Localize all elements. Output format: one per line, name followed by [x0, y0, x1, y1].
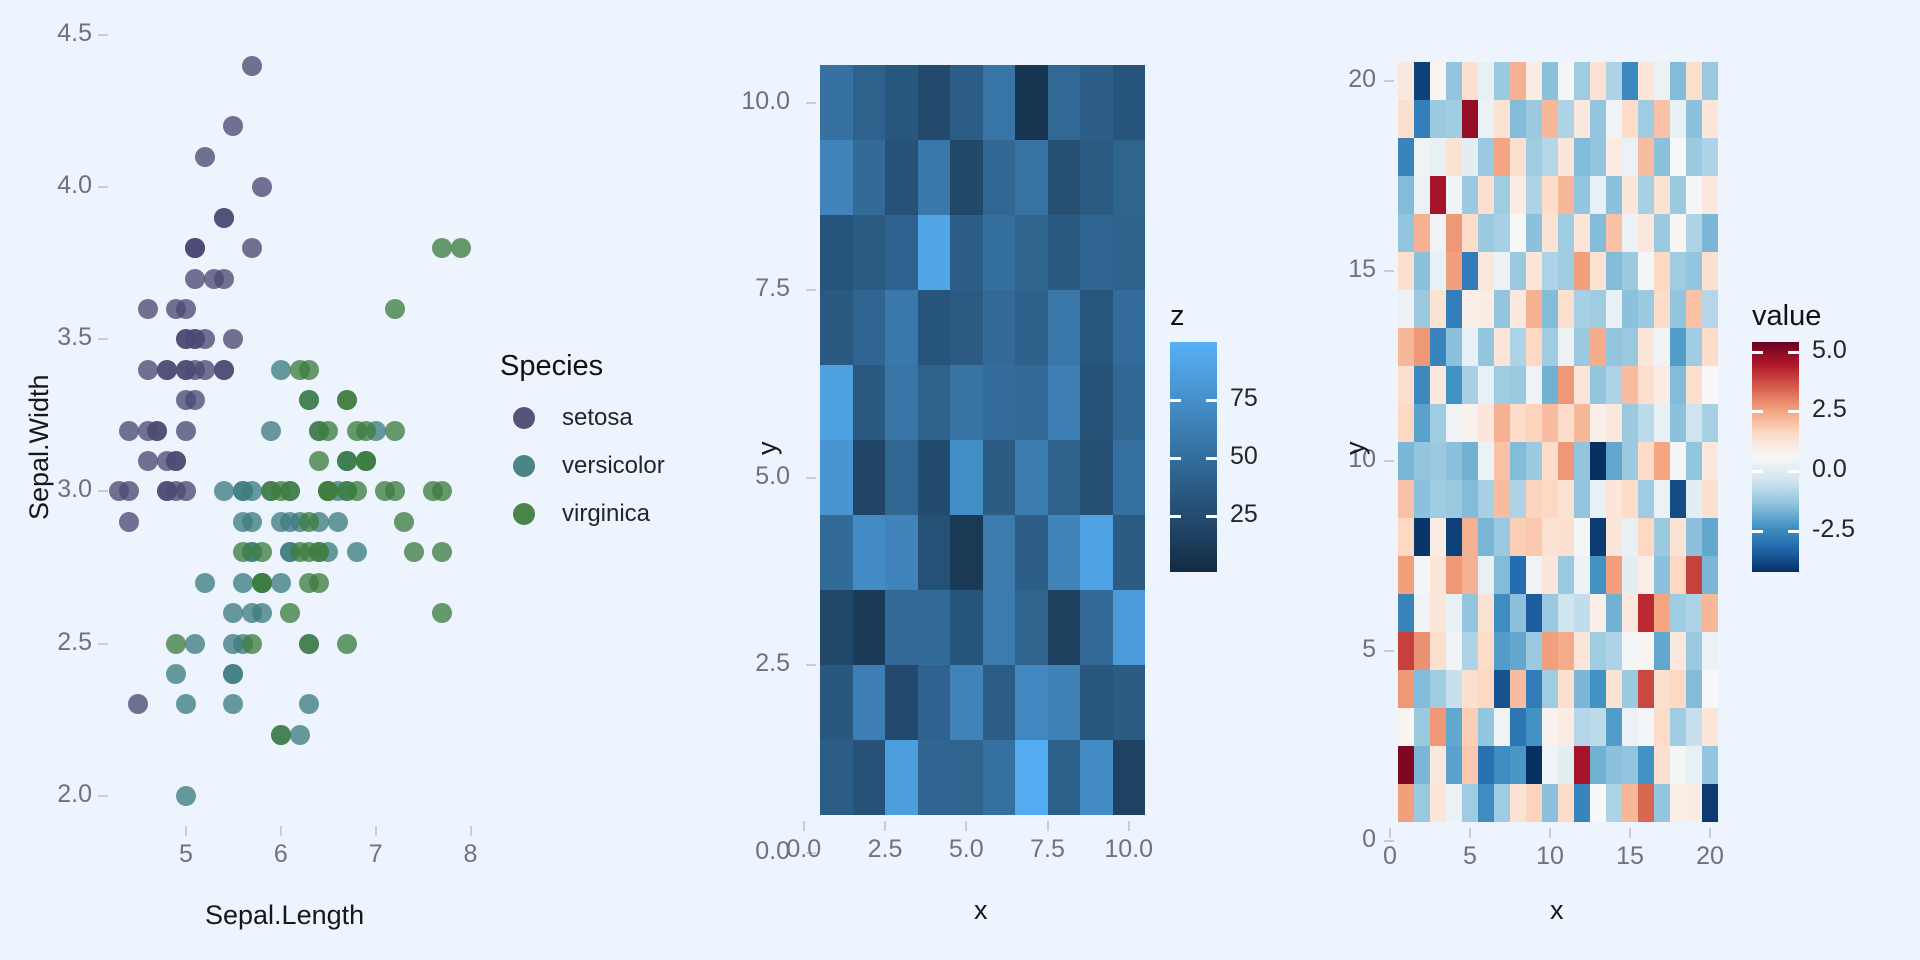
colorbar-z-tick-mark — [1206, 399, 1217, 402]
heatmap-cell — [1526, 594, 1542, 632]
scatter-point — [176, 694, 196, 714]
heatmap-cell — [1558, 138, 1574, 176]
heatmap-cell — [1542, 328, 1558, 366]
heatmap-cell — [1542, 138, 1558, 176]
heatmap-cell — [1670, 252, 1686, 290]
heatmap-cell — [1398, 518, 1414, 556]
heatmap-cell — [1113, 215, 1146, 290]
heatmap-cell — [885, 65, 918, 140]
scatter-x-tick-label: 5 — [156, 840, 216, 869]
heatmap-cell — [1606, 62, 1622, 100]
heatmap-cell — [1494, 746, 1510, 784]
heatmap-cell — [1654, 784, 1670, 822]
scatter-x-tick-mark — [470, 826, 472, 836]
heatmap-cell — [1113, 590, 1146, 665]
scatter-point — [394, 512, 414, 532]
scatter-x-tick-label: 7 — [346, 840, 406, 869]
heatmap-cell — [1542, 670, 1558, 708]
legend-entry-label: virginica — [562, 500, 650, 528]
heatmap-cell — [1638, 556, 1654, 594]
scatter-point — [223, 329, 243, 349]
scatter-point — [299, 390, 319, 410]
heatmap-cell — [1414, 404, 1430, 442]
heatmap-cell — [1398, 442, 1414, 480]
heatmap-cell — [1670, 708, 1686, 746]
heatmap-cell — [1446, 252, 1462, 290]
heatmap-cell — [1590, 594, 1606, 632]
heatmap-cell — [1654, 100, 1670, 138]
scatter-point — [271, 360, 291, 380]
heatmap-cell — [1590, 176, 1606, 214]
heatmap-cell — [1574, 594, 1590, 632]
heatmap-cell — [1558, 176, 1574, 214]
scatter-point — [385, 299, 405, 319]
heatmap-cell — [853, 515, 886, 590]
heatmap-cell — [1638, 708, 1654, 746]
heatmap-cell — [1015, 365, 1048, 440]
scatter-plot-area — [110, 20, 480, 820]
heatmap-value-x-tick-mark — [1389, 828, 1391, 838]
heatmap-cell — [885, 140, 918, 215]
heatmap-cell — [1462, 62, 1478, 100]
scatter-point — [223, 634, 243, 654]
heatmap-cell — [1462, 252, 1478, 290]
colorbar-value-gradient — [1752, 342, 1799, 572]
colorbar-value-tick-mark — [1788, 351, 1799, 354]
heatmap-cell — [950, 440, 983, 515]
heatmap-cell — [1446, 176, 1462, 214]
heatmap-cell — [1414, 708, 1430, 746]
heatmap-cell — [1606, 100, 1622, 138]
heatmap-cell — [1510, 632, 1526, 670]
heatmap-value-x-tick-mark — [1549, 828, 1551, 838]
heatmap-cell — [918, 65, 951, 140]
heatmap-cell — [853, 590, 886, 665]
heatmap-cell — [1430, 328, 1446, 366]
scatter-point — [185, 634, 205, 654]
heatmap-cell — [1574, 290, 1590, 328]
heatmap-cell — [1590, 290, 1606, 328]
heatmap-cell — [1542, 176, 1558, 214]
heatmap-cell — [1494, 442, 1510, 480]
scatter-point — [252, 573, 272, 593]
heatmap-cell — [1510, 594, 1526, 632]
heatmap-cell — [1414, 62, 1430, 100]
heatmap-cell — [1414, 556, 1430, 594]
heatmap-cell — [1638, 442, 1654, 480]
heatmap-cell — [1446, 670, 1462, 708]
heatmap-cell — [1686, 518, 1702, 556]
heatmap-cell — [1686, 480, 1702, 518]
heatmap-cell — [1113, 65, 1146, 140]
heatmap-cell — [1622, 518, 1638, 556]
heatmap-cell — [885, 740, 918, 815]
scatter-point — [223, 603, 243, 623]
heatmap-cell — [1574, 442, 1590, 480]
heatmap-cell — [1590, 100, 1606, 138]
heatmap-cell — [1558, 366, 1574, 404]
heatmap-cell — [1526, 480, 1542, 518]
heatmap-z-x-tick-label: 0.0 — [760, 835, 848, 864]
heatmap-cell — [1622, 594, 1638, 632]
heatmap-cell — [1686, 708, 1702, 746]
legend-key-dot — [513, 455, 535, 477]
heatmap-cell — [1510, 290, 1526, 328]
heatmap-cell — [1622, 556, 1638, 594]
heatmap-cell — [1478, 670, 1494, 708]
heatmap-cell — [1654, 746, 1670, 784]
heatmap-cell — [1430, 404, 1446, 442]
heatmap-cell — [1686, 138, 1702, 176]
heatmap-cell — [1702, 100, 1718, 138]
heatmap-cell — [1574, 366, 1590, 404]
colorbar-value-tick-mark — [1788, 530, 1799, 533]
heatmap-cell — [1558, 328, 1574, 366]
scatter-point — [128, 694, 148, 714]
heatmap-cell — [1638, 670, 1654, 708]
heatmap-cell — [1446, 138, 1462, 176]
heatmap-cell — [1670, 176, 1686, 214]
scatter-point — [214, 481, 234, 501]
heatmap-z-y-tick-mark — [806, 102, 816, 104]
heatmap-cell — [1510, 556, 1526, 594]
heatmap-cell — [1446, 328, 1462, 366]
heatmap-cell — [1606, 442, 1622, 480]
heatmap-cell — [1526, 442, 1542, 480]
heatmap-cell — [1414, 784, 1430, 822]
scatter-point — [309, 421, 329, 441]
heatmap-cell — [1462, 442, 1478, 480]
heatmap-cell — [1542, 594, 1558, 632]
heatmap-cell — [820, 140, 853, 215]
heatmap-cell — [1542, 252, 1558, 290]
heatmap-z-y-tick-mark — [806, 477, 816, 479]
heatmap-cell — [1542, 708, 1558, 746]
heatmap-cell — [983, 290, 1016, 365]
heatmap-cell — [1478, 214, 1494, 252]
panel-heatmap-value: 05101520 05101520 y x value 5.02.50.0-2.… — [1320, 0, 1920, 960]
heatmap-cell — [1414, 442, 1430, 480]
heatmap-cell — [1670, 632, 1686, 670]
heatmap-cell — [1574, 62, 1590, 100]
heatmap-cell — [1526, 632, 1542, 670]
heatmap-z-grid — [820, 65, 1145, 815]
heatmap-cell — [1446, 518, 1462, 556]
heatmap-cell — [1430, 480, 1446, 518]
colorbar-value-tick-label: 2.5 — [1812, 395, 1847, 424]
scatter-point — [138, 299, 158, 319]
heatmap-cell — [1670, 214, 1686, 252]
heatmap-cell — [918, 740, 951, 815]
heatmap-cell — [1542, 480, 1558, 518]
heatmap-cell — [1638, 746, 1654, 784]
heatmap-cell — [1526, 366, 1542, 404]
colorbar-z-tick-label: 25 — [1230, 500, 1258, 529]
scatter-point — [223, 116, 243, 136]
heatmap-value-x-tick-mark — [1469, 828, 1471, 838]
scatter-point — [242, 634, 262, 654]
heatmap-cell — [1526, 708, 1542, 746]
heatmap-cell — [1670, 138, 1686, 176]
heatmap-cell — [1430, 556, 1446, 594]
heatmap-cell — [1606, 480, 1622, 518]
heatmap-cell — [1414, 518, 1430, 556]
heatmap-cell — [885, 440, 918, 515]
heatmap-cell — [1478, 784, 1494, 822]
heatmap-cell — [1510, 62, 1526, 100]
heatmap-cell — [1686, 556, 1702, 594]
colorbar-value-tick-label: -2.5 — [1812, 515, 1855, 544]
heatmap-cell — [1526, 328, 1542, 366]
heatmap-cell — [918, 440, 951, 515]
scatter-point — [214, 360, 234, 380]
heatmap-z-y-tick-label: 2.5 — [700, 649, 790, 678]
heatmap-cell — [1398, 670, 1414, 708]
heatmap-cell — [885, 665, 918, 740]
scatter-point — [138, 451, 158, 471]
heatmap-cell — [1080, 65, 1113, 140]
scatter-point — [337, 451, 357, 471]
heatmap-cell — [820, 215, 853, 290]
scatter-y-tick-label: 2.0 — [30, 780, 92, 809]
heatmap-cell — [1414, 746, 1430, 784]
legend-title-species: Species — [500, 350, 603, 383]
heatmap-cell — [1574, 632, 1590, 670]
heatmap-cell — [1462, 480, 1478, 518]
scatter-point — [337, 390, 357, 410]
heatmap-cell — [1654, 442, 1670, 480]
heatmap-cell — [1574, 176, 1590, 214]
heatmap-cell — [1446, 480, 1462, 518]
heatmap-cell — [1670, 62, 1686, 100]
heatmap-cell — [1494, 290, 1510, 328]
heatmap-cell — [1398, 100, 1414, 138]
scatter-point — [271, 573, 291, 593]
heatmap-cell — [1670, 366, 1686, 404]
heatmap-z-y-tick-label: 5.0 — [700, 462, 790, 491]
heatmap-cell — [1494, 328, 1510, 366]
scatter-y-tick-label: 4.5 — [30, 19, 92, 48]
heatmap-cell — [1414, 252, 1430, 290]
heatmap-z-x-tick-label: 2.5 — [841, 835, 929, 864]
heatmap-cell — [1558, 708, 1574, 746]
heatmap-cell — [1510, 784, 1526, 822]
scatter-point — [138, 360, 158, 380]
heatmap-cell — [853, 140, 886, 215]
heatmap-cell — [1462, 328, 1478, 366]
heatmap-cell — [1446, 290, 1462, 328]
heatmap-cell — [1606, 594, 1622, 632]
scatter-y-tick-mark — [98, 338, 108, 340]
colorbar-value-tick-mark — [1752, 351, 1763, 354]
heatmap-cell — [1430, 784, 1446, 822]
heatmap-cell — [1048, 665, 1081, 740]
legend-key-dot — [513, 407, 535, 429]
heatmap-cell — [1590, 442, 1606, 480]
scatter-point — [299, 694, 319, 714]
heatmap-cell — [1638, 632, 1654, 670]
heatmap-cell — [1542, 404, 1558, 442]
colorbar-value-tick-label: 0.0 — [1812, 455, 1847, 484]
heatmap-cell — [950, 290, 983, 365]
heatmap-cell — [1446, 366, 1462, 404]
heatmap-cell — [1526, 138, 1542, 176]
heatmap-cell — [1414, 480, 1430, 518]
heatmap-cell — [1670, 746, 1686, 784]
legend-key-dot — [513, 503, 535, 525]
heatmap-cell — [1654, 366, 1670, 404]
heatmap-cell — [1542, 746, 1558, 784]
heatmap-cell — [1510, 214, 1526, 252]
heatmap-cell — [1526, 290, 1542, 328]
scatter-point — [233, 573, 253, 593]
heatmap-cell — [1048, 740, 1081, 815]
heatmap-cell — [1526, 556, 1542, 594]
heatmap-cell — [1462, 746, 1478, 784]
heatmap-cell — [1446, 632, 1462, 670]
scatter-point — [119, 512, 139, 532]
heatmap-cell — [1526, 62, 1542, 100]
heatmap-cell — [853, 665, 886, 740]
heatmap-cell — [1702, 290, 1718, 328]
heatmap-cell — [1542, 784, 1558, 822]
heatmap-cell — [1622, 442, 1638, 480]
scatter-point — [309, 451, 329, 471]
heatmap-cell — [1398, 366, 1414, 404]
heatmap-cell — [853, 440, 886, 515]
scatter-y-axis-title: Sepal.Width — [24, 374, 55, 520]
heatmap-cell — [1574, 746, 1590, 784]
heatmap-z-x-tick-mark — [803, 821, 805, 831]
heatmap-cell — [1478, 594, 1494, 632]
heatmap-cell — [1478, 138, 1494, 176]
heatmap-cell — [1590, 328, 1606, 366]
heatmap-cell — [1048, 440, 1081, 515]
heatmap-cell — [1510, 176, 1526, 214]
heatmap-cell — [1494, 518, 1510, 556]
scatter-point — [242, 56, 262, 76]
heatmap-cell — [1686, 442, 1702, 480]
heatmap-cell — [1478, 404, 1494, 442]
scatter-point — [176, 481, 196, 501]
heatmap-cell — [1622, 62, 1638, 100]
heatmap-cell — [1398, 556, 1414, 594]
heatmap-cell — [1590, 518, 1606, 556]
scatter-point — [242, 512, 262, 532]
legend-entry-label: setosa — [562, 404, 633, 432]
heatmap-cell — [1702, 176, 1718, 214]
colorbar-z-tick-mark — [1170, 515, 1181, 518]
heatmap-cell — [1558, 746, 1574, 784]
heatmap-cell — [1526, 100, 1542, 138]
heatmap-cell — [1478, 746, 1494, 784]
heatmap-cell — [918, 290, 951, 365]
heatmap-cell — [1558, 594, 1574, 632]
heatmap-cell — [1113, 365, 1146, 440]
heatmap-cell — [1398, 138, 1414, 176]
scatter-point — [214, 208, 234, 228]
heatmap-cell — [853, 65, 886, 140]
heatmap-cell — [1414, 366, 1430, 404]
heatmap-cell — [1686, 214, 1702, 252]
scatter-point — [432, 238, 452, 258]
heatmap-cell — [1462, 290, 1478, 328]
scatter-y-tick-label: 4.0 — [30, 171, 92, 200]
scatter-y-tick-mark — [98, 490, 108, 492]
scatter-point — [432, 603, 452, 623]
heatmap-cell — [1446, 708, 1462, 746]
heatmap-cell — [1015, 140, 1048, 215]
scatter-point — [157, 360, 177, 380]
heatmap-cell — [1622, 784, 1638, 822]
heatmap-cell — [1654, 480, 1670, 518]
heatmap-cell — [1574, 100, 1590, 138]
heatmap-value-x-tick-mark — [1629, 828, 1631, 838]
heatmap-cell — [1702, 746, 1718, 784]
heatmap-cell — [885, 215, 918, 290]
heatmap-cell — [1622, 746, 1638, 784]
heatmap-cell — [1494, 594, 1510, 632]
heatmap-value-y-tick-mark — [1384, 460, 1394, 462]
heatmap-cell — [1638, 214, 1654, 252]
scatter-point — [252, 603, 272, 623]
heatmap-cell — [1015, 515, 1048, 590]
scatter-point — [385, 481, 405, 501]
heatmap-cell — [950, 65, 983, 140]
heatmap-cell — [1414, 594, 1430, 632]
heatmap-cell — [1638, 366, 1654, 404]
heatmap-cell — [1113, 290, 1146, 365]
heatmap-cell — [1526, 670, 1542, 708]
heatmap-cell — [1606, 670, 1622, 708]
heatmap-value-x-tick-label: 0 — [1356, 842, 1424, 871]
heatmap-cell — [1638, 138, 1654, 176]
heatmap-cell — [1015, 215, 1048, 290]
heatmap-cell — [1414, 290, 1430, 328]
heatmap-cell — [885, 365, 918, 440]
heatmap-z-x-axis-title: x — [974, 895, 988, 926]
heatmap-cell — [1670, 480, 1686, 518]
heatmap-cell — [1430, 366, 1446, 404]
colorbar-z-title: z — [1170, 300, 1185, 333]
heatmap-cell — [1606, 784, 1622, 822]
heatmap-cell — [1670, 404, 1686, 442]
heatmap-cell — [1478, 708, 1494, 746]
heatmap-cell — [1048, 365, 1081, 440]
heatmap-cell — [950, 665, 983, 740]
heatmap-cell — [1702, 252, 1718, 290]
heatmap-cell — [1542, 290, 1558, 328]
heatmap-cell — [1462, 594, 1478, 632]
heatmap-cell — [1638, 62, 1654, 100]
heatmap-cell — [1398, 252, 1414, 290]
heatmap-cell — [820, 365, 853, 440]
heatmap-cell — [1574, 480, 1590, 518]
colorbar-z-tick-label: 50 — [1230, 442, 1258, 471]
heatmap-cell — [1048, 215, 1081, 290]
heatmap-cell — [1113, 440, 1146, 515]
heatmap-cell — [1398, 784, 1414, 822]
heatmap-z-x-tick-mark — [884, 821, 886, 831]
heatmap-cell — [1542, 62, 1558, 100]
heatmap-cell — [1446, 594, 1462, 632]
heatmap-cell — [1446, 556, 1462, 594]
scatter-point — [451, 238, 471, 258]
scatter-point — [299, 573, 319, 593]
heatmap-cell — [1462, 670, 1478, 708]
heatmap-cell — [1462, 708, 1478, 746]
heatmap-value-y-axis-title: y — [1340, 442, 1371, 456]
